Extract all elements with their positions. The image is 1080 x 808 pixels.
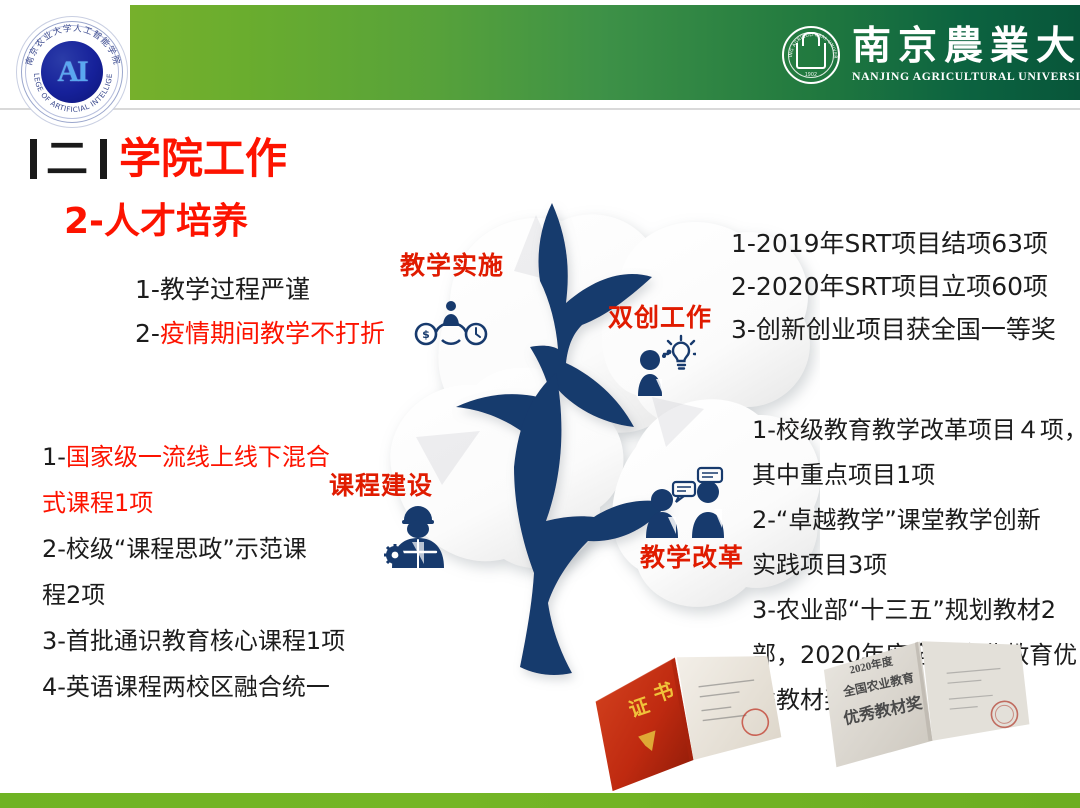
list-item: 3-首批通识教育核心课程1项 (42, 618, 372, 664)
textbook-award-certificate-photo: 2020年度 全国农业教育 优秀教材奖 (820, 628, 1035, 773)
slide-root: 南京农业大学人工智能学院 COLLEGE OF ARTIFICIAL INTEL… (0, 0, 1080, 808)
list-item: 程2项 (42, 572, 372, 618)
nau-seal-year: 1902 (805, 72, 817, 78)
list-item: 3-农业部“十三五”规划教材2 (752, 588, 1072, 633)
seal-center-disc: AI (41, 41, 103, 103)
section-number: 二 (46, 138, 88, 180)
list-item: 2-2020年SRT项目立项60项 (731, 265, 1056, 308)
list-item: 2-疫情期间教学不打折 (135, 312, 385, 356)
page-subtitle: 2-人才培养 (64, 204, 248, 240)
red-certificate-photo: 证 书 (588, 637, 793, 794)
worker-gear-icon (382, 502, 454, 568)
list-item-text: 教学过程严谨 (160, 275, 310, 304)
node-label-teaching-reform: 教学改革 (640, 545, 744, 570)
person-money-clock-icon: $ (413, 296, 489, 350)
title-bar-right (100, 139, 107, 179)
person-lightbulb-icon (632, 334, 696, 396)
list-item: 其中重点项目1项 (752, 453, 1072, 498)
node-label-teaching-implementation: 教学实施 (400, 253, 504, 278)
two-people-speech-bubbles-icon (640, 466, 732, 538)
footer-green-band (0, 793, 1080, 808)
nau-wordmark: 南京農業大學 NANJING AGRICULTURAL UNIVERSITY (852, 27, 1080, 83)
nanjing-agricultural-university-logo: NANJING AGRICULTURAL UNIVERSITY 1902 南京農… (782, 20, 1080, 90)
list-item: 实践项目3项 (752, 543, 1072, 588)
nau-name-cn: 南京農業大學 (852, 27, 1080, 66)
list-item-prefix: 1- (135, 275, 160, 304)
section-title: 二 学院工作 (30, 138, 287, 180)
list-item: 1-校级教育教学改革项目４项， (752, 408, 1072, 453)
title-bar-left (30, 139, 37, 179)
list-item: 3-创新创业项目获全国一等奖 (731, 308, 1056, 351)
text-block-top-left: 1-教学过程严谨 2-疫情期间教学不打折 (135, 268, 385, 356)
list-item: 2-“卓越教学”课堂教学创新 (752, 498, 1072, 543)
list-item: 2-校级“课程思政”示范课 (42, 526, 372, 572)
list-item-text: 疫情期间教学不打折 (160, 319, 385, 348)
list-item: 1-国家级一流线上线下混合 (42, 434, 372, 480)
list-item-text: 国家级一流线上线下混合 (66, 443, 330, 471)
header-divider-rule (0, 108, 1080, 110)
nau-gate-glyph (796, 43, 826, 69)
list-item-prefix: 2- (135, 319, 160, 348)
text-block-top-right: 1-2019年SRT项目结项63项 2-2020年SRT项目立项60项 3-创新… (731, 222, 1056, 351)
list-item: 式课程1项 (42, 480, 372, 526)
section-title-text: 学院工作 (119, 138, 287, 180)
node-label-innovation-work: 双创工作 (608, 305, 712, 330)
nau-seal-icon: NANJING AGRICULTURAL UNIVERSITY 1902 (782, 26, 840, 84)
list-item: 4-英语课程两校区融合统一 (42, 664, 372, 710)
list-item: 1-教学过程严谨 (135, 268, 385, 312)
college-of-artificial-intelligence-seal: 南京农业大学人工智能学院 COLLEGE OF ARTIFICIAL INTEL… (16, 16, 128, 128)
text-block-bottom-left: 1-国家级一流线上线下混合 式课程1项 2-校级“课程思政”示范课 程2项 3-… (42, 434, 372, 710)
list-item: 1-2019年SRT项目结项63项 (731, 222, 1056, 265)
nau-name-en: NANJING AGRICULTURAL UNIVERSITY (852, 71, 1080, 83)
svg-text:$: $ (422, 328, 430, 341)
ai-monogram: AI (57, 55, 86, 89)
list-item-prefix: 1- (42, 443, 66, 471)
